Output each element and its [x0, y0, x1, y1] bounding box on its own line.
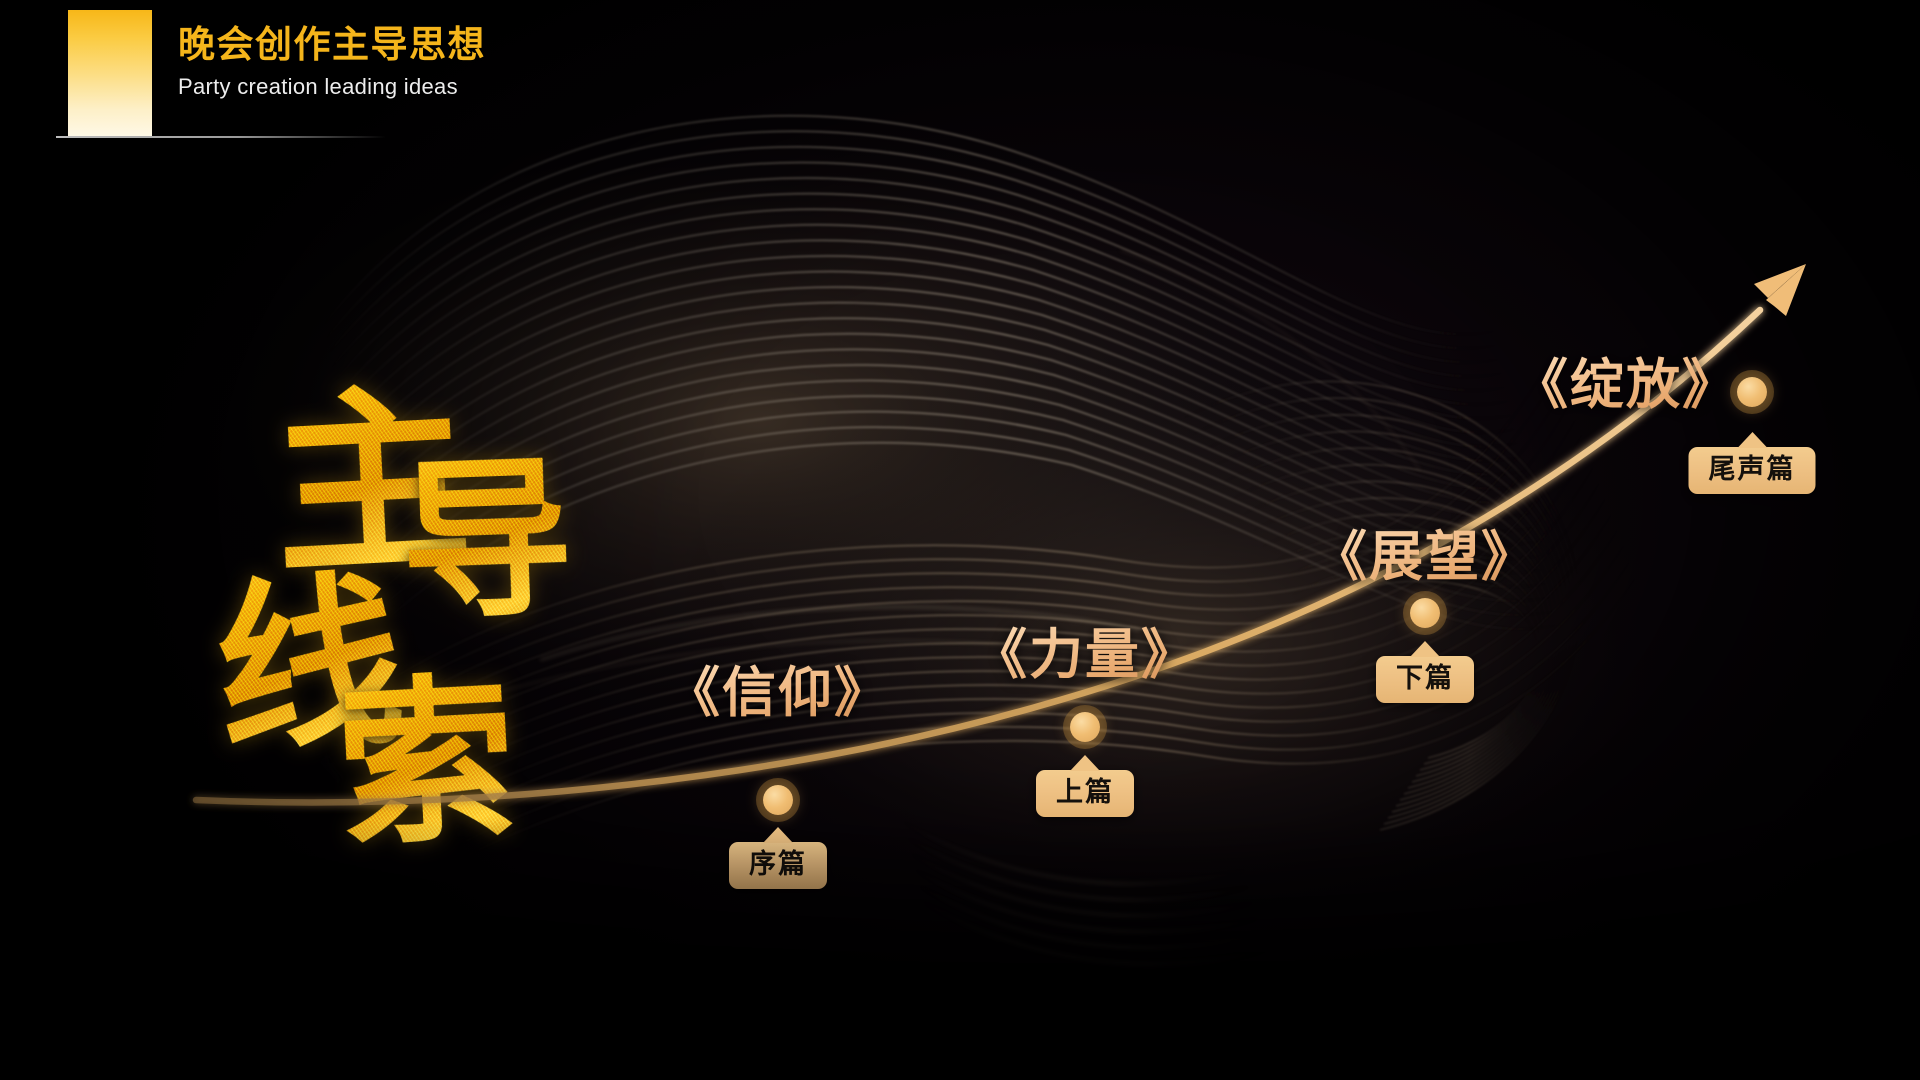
- slide-canvas: 晚会创作主导思想 Party creation leading ideas 主 …: [0, 0, 1920, 1080]
- milestone-2-badge[interactable]: 上篇: [1036, 770, 1134, 817]
- milestone-4-badge[interactable]: 尾声篇: [1689, 447, 1816, 494]
- milestone-1-dot[interactable]: [763, 785, 793, 815]
- milestone-2-title: 《力量》: [973, 610, 1197, 689]
- milestone-1-badge[interactable]: 序篇: [729, 842, 827, 889]
- timeline-svg: [0, 0, 1920, 1080]
- milestone-4-dot[interactable]: [1737, 377, 1767, 407]
- milestone-3-title: 《展望》: [1313, 512, 1537, 591]
- timeline-curve: [0, 0, 1920, 1080]
- milestone-2-dot[interactable]: [1070, 712, 1100, 742]
- milestone-1-title: 《信仰》: [666, 648, 890, 727]
- milestone-4-title: 《绽放》: [1514, 340, 1738, 419]
- milestone-3-badge[interactable]: 下篇: [1376, 656, 1474, 703]
- milestone-3-dot[interactable]: [1410, 598, 1440, 628]
